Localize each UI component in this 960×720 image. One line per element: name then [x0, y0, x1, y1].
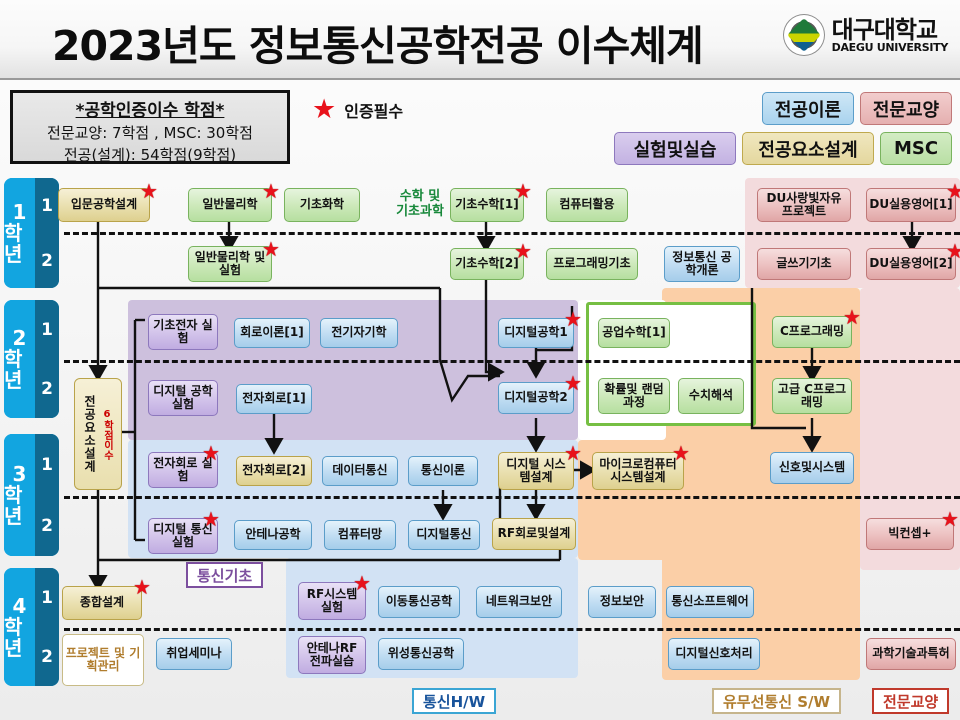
- credit-requirement-box: *공학인증이수 학점* 전문교양: 7학점 , MSC: 30학점 전공(설계)…: [10, 90, 290, 164]
- course-node[interactable]: 과학기술과특허: [866, 638, 956, 670]
- credit-box-title: *공학인증이수 학점*: [13, 96, 287, 121]
- year-label-2: 2학년: [4, 300, 35, 418]
- course-node[interactable]: 통신이론: [408, 456, 478, 486]
- track-label-comm-basic: 통신기초: [186, 562, 263, 588]
- course-node[interactable]: 데이터통신: [322, 456, 398, 486]
- year-label-4: 4학년: [4, 568, 35, 686]
- course-node[interactable]: 기초전자 실험: [148, 314, 218, 350]
- star-icon: ★: [564, 309, 582, 329]
- legend-category-msc: MSC: [880, 132, 952, 165]
- semester-3-1: 1: [35, 434, 59, 495]
- course-node[interactable]: 디지털신호처리: [668, 638, 760, 670]
- course-node[interactable]: 프로젝트 및 기획관리: [62, 634, 144, 686]
- star-icon: ★: [564, 373, 582, 393]
- course-node[interactable]: 정보통신 공학개론: [664, 246, 740, 282]
- star-icon: ★: [946, 241, 960, 261]
- course-node[interactable]: 공업수학[1]: [598, 318, 670, 348]
- course-node[interactable]: 디지털공학1: [498, 318, 574, 348]
- semester-4-2: 2: [35, 627, 59, 686]
- course-node[interactable]: 컴퓨터활용: [546, 188, 628, 222]
- semester-3-2: 2: [35, 495, 59, 556]
- course-node[interactable]: 회로이론[1]: [234, 318, 310, 348]
- course-node[interactable]: 안테나RF 전파실습: [298, 636, 366, 674]
- course-node[interactable]: 기초수학[2]: [450, 248, 524, 280]
- course-node[interactable]: 글쓰기기초: [757, 248, 851, 280]
- course-node[interactable]: C프로그래밍: [772, 316, 852, 348]
- course-node[interactable]: 전기자기학: [320, 318, 398, 348]
- course-node[interactable]: 디지털통신: [408, 520, 480, 550]
- legend-category-lab: 실험및실습: [614, 132, 736, 165]
- year-label-1: 1학년: [4, 178, 35, 288]
- semester-divider-2: [64, 360, 960, 363]
- semester-divider-3: [64, 496, 960, 499]
- legend-category-theory: 전공이론: [762, 92, 854, 125]
- star-icon: ★: [202, 509, 220, 529]
- course-node[interactable]: 일반물리학 및 실험: [188, 246, 272, 282]
- semester-divider-4: [64, 628, 960, 631]
- course-node[interactable]: 확률및 랜덤과정: [598, 378, 670, 414]
- daegu-university-emblem-icon: [783, 14, 825, 56]
- year-block-4: 4학년 1 2: [4, 568, 59, 686]
- page-header: 2023년도 정보통신공학전공 이수체계 대구대학교 DAEGU UNIVERS…: [0, 0, 960, 80]
- university-logo: 대구대학교 DAEGU UNIVERSITY: [783, 14, 948, 56]
- design-requirement-column: 전공요소설계 6학점이수: [74, 378, 122, 490]
- course-node[interactable]: 기초화학: [284, 188, 360, 222]
- course-node[interactable]: 프로그래밍기초: [546, 248, 638, 280]
- semester-4-1: 1: [35, 568, 59, 627]
- star-legend: ★ 인증필수: [312, 96, 403, 123]
- star-icon: ★: [843, 307, 861, 327]
- logo-name-english: DAEGU UNIVERSITY: [832, 42, 948, 53]
- course-node[interactable]: 마이크로컴퓨터 시스템설계: [592, 452, 684, 490]
- course-node[interactable]: 안테나공학: [234, 520, 312, 550]
- semester-1-1: 1: [35, 178, 59, 233]
- course-node[interactable]: 입문공학설계: [58, 188, 150, 222]
- course-node[interactable]: 통신소프트웨어: [666, 586, 754, 618]
- course-node[interactable]: DU실용영어[1]: [866, 188, 956, 222]
- star-icon: ★: [202, 443, 220, 463]
- course-node[interactable]: 정보보안: [588, 586, 656, 618]
- logo-name-korean: 대구대학교: [832, 18, 948, 42]
- semester-2-2: 2: [35, 359, 59, 418]
- design-column-note: 6학점이수: [100, 409, 115, 460]
- course-node[interactable]: 디지털공학2: [498, 382, 574, 414]
- course-node[interactable]: RF회로및설계: [492, 518, 576, 550]
- semester-1-2: 2: [35, 233, 59, 288]
- track-label-comm-hw: 통신H/W: [412, 688, 496, 714]
- course-node[interactable]: 일반물리학: [188, 188, 272, 222]
- track-label-comm-sw: 유무선통신 S/W: [712, 688, 841, 714]
- course-node[interactable]: 디지털 공학실험: [148, 380, 218, 416]
- star-icon: ★: [262, 181, 280, 201]
- star-icon: ★: [564, 443, 582, 463]
- star-icon: ★: [262, 239, 280, 259]
- course-node[interactable]: 취업세미나: [156, 638, 232, 670]
- course-node[interactable]: 전자회로[1]: [236, 384, 312, 414]
- course-node[interactable]: 종합설계: [62, 586, 142, 620]
- star-icon: ★: [672, 443, 690, 463]
- course-node[interactable]: 컴퓨터망: [324, 520, 396, 550]
- year-block-3: 3학년 1 2: [4, 434, 59, 556]
- star-icon: ★: [353, 573, 371, 593]
- course-node[interactable]: 수치해석: [678, 378, 744, 414]
- legend-category-design: 전공요소설계: [742, 132, 874, 165]
- star-icon: ★: [941, 509, 959, 529]
- semester-divider-1: [64, 232, 960, 235]
- star-icon: ★: [312, 96, 336, 123]
- legend-category-general: 전문교양: [860, 92, 952, 125]
- star-icon: ★: [133, 577, 151, 597]
- track-label-general-education: 전문교양: [872, 688, 949, 714]
- course-node[interactable]: DU사랑빛자유 프로젝트: [757, 188, 851, 222]
- course-node[interactable]: 신호및시스템: [770, 452, 854, 484]
- design-column-label: 전공요소설계: [82, 395, 99, 473]
- star-icon: ★: [140, 181, 158, 201]
- course-node[interactable]: 전자회로[2]: [236, 456, 312, 486]
- course-node[interactable]: 디지털 시스템설계: [498, 452, 574, 490]
- year-block-2: 2학년 1 2: [4, 300, 59, 418]
- star-icon: ★: [514, 241, 532, 261]
- course-node[interactable]: 네트워크보안: [476, 586, 562, 618]
- credit-box-line2: 전공(설계): 54학점(9학점): [13, 144, 287, 165]
- course-node[interactable]: 이동통신공학: [378, 586, 460, 618]
- star-legend-label: 인증필수: [344, 98, 403, 122]
- course-node[interactable]: 위성통신공학: [378, 638, 464, 670]
- semester-2-1: 1: [35, 300, 59, 359]
- star-icon: ★: [946, 181, 960, 201]
- star-icon: ★: [514, 181, 532, 201]
- page-title: 2023년도 정보통신공학전공 이수체계: [52, 12, 703, 72]
- course-node[interactable]: DU실용영어[2]: [866, 248, 956, 280]
- year-label-3: 3학년: [4, 434, 35, 556]
- course-node[interactable]: 기초수학[1]: [450, 188, 524, 222]
- year-block-1: 1학년 1 2: [4, 178, 59, 288]
- course-node[interactable]: 고급 C프로그래밍: [772, 378, 852, 414]
- credit-box-line1: 전문교양: 7학점 , MSC: 30학점: [13, 122, 287, 143]
